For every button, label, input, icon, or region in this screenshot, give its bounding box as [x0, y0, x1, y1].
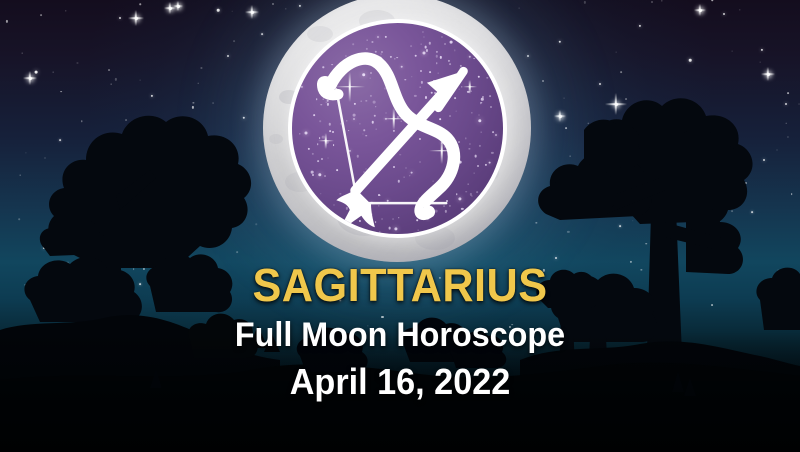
horoscope-banner: SAGITTARIUS Full Moon Horoscope April 16… [0, 0, 800, 452]
sagittarius-bow-and-arrow-icon [292, 23, 503, 234]
zodiac-star-dust [503, 123, 504, 124]
sagittarius-zodiac-disc [288, 19, 507, 238]
